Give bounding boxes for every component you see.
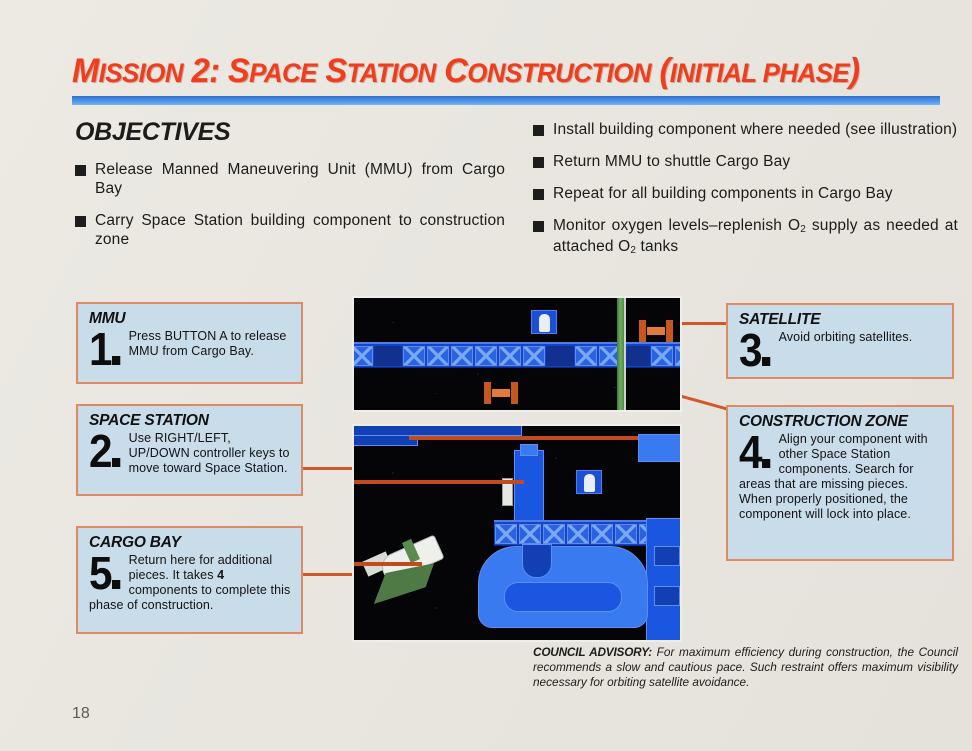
station-block (615, 524, 637, 544)
callout-heading: MMU (89, 310, 292, 328)
objective-item: Return MMU to shuttle Cargo Bay (533, 152, 958, 171)
callout-heading: CONSTRUCTION ZONE (739, 413, 943, 431)
square-bullet-icon (75, 165, 86, 176)
objective-text: Return MMU to shuttle Cargo Bay (553, 152, 790, 171)
station-block (475, 346, 497, 366)
station-tower-cap (520, 444, 538, 456)
station-tower (514, 450, 544, 526)
mmu-sprite (531, 310, 557, 334)
station-column-notch (654, 586, 680, 606)
station-block (523, 346, 545, 366)
station-block (495, 524, 517, 544)
satellite-sprite-upper (639, 320, 673, 342)
square-bullet-icon (75, 216, 86, 227)
station-block (519, 524, 541, 544)
gameplay-screenshot-top (352, 296, 682, 412)
objective-item: Install building component where needed … (533, 120, 958, 139)
station-column-notch (654, 546, 680, 566)
station-block (427, 346, 449, 366)
station-block (567, 524, 589, 544)
green-barrier (617, 298, 626, 412)
objective-item: Carry Space Station building component t… (75, 211, 505, 249)
title-rule (72, 96, 940, 105)
objectives-column-right: Install building component where needed … (533, 120, 958, 271)
callout-number: 5 (89, 553, 120, 593)
construction-zone-gap (522, 544, 552, 578)
callout-heading: SPACE STATION (89, 412, 292, 430)
callout-number: 4 (739, 432, 770, 472)
callout-number: 1 (89, 329, 120, 369)
objective-item: Release Manned Maneuvering Unit (MMU) fr… (75, 160, 505, 198)
objective-text: Carry Space Station building component t… (95, 211, 505, 249)
station-block (651, 346, 673, 366)
page-title: MISSION 2: SPACE STATION CONSTRUCTION (I… (72, 52, 905, 91)
objective-item: Monitor oxygen levels–replenish O2 suppl… (533, 216, 958, 258)
station-column-right (646, 518, 682, 642)
objective-item: Repeat for all building components in Ca… (533, 184, 958, 203)
page-title-block: MISSION 2: SPACE STATION CONSTRUCTION (I… (72, 52, 940, 105)
square-bullet-icon (533, 125, 544, 136)
callout-number: 3 (739, 330, 770, 370)
station-block (499, 346, 521, 366)
square-bullet-icon (533, 221, 544, 232)
objective-text: Repeat for all building components in Ca… (553, 184, 893, 203)
manual-page: MISSION 2: SPACE STATION CONSTRUCTION (I… (0, 0, 972, 751)
advisory-label: COUNCIL ADVISORY: (533, 645, 652, 659)
callout-number: 2 (89, 431, 120, 471)
station-block (575, 346, 597, 366)
gameplay-screenshot-bottom (352, 424, 682, 642)
station-ledge (352, 424, 522, 436)
station-block (403, 346, 425, 366)
objective-text: Monitor oxygen levels–replenish O2 suppl… (553, 216, 958, 258)
square-bullet-icon (533, 189, 544, 200)
station-module (638, 434, 682, 462)
boundary-marker-low (352, 562, 422, 566)
station-block (591, 524, 613, 544)
shuttle-sprite (362, 538, 472, 618)
station-gap (622, 346, 650, 366)
satellite-sprite-lower (484, 382, 518, 404)
station-block (451, 346, 473, 366)
station-gap (374, 346, 402, 366)
square-bullet-icon (533, 157, 544, 168)
callout-mmu[interactable]: MMU 1 Press BUTTON A to release MMU from… (76, 302, 303, 384)
callout-satellite[interactable]: SATELLITE 3 Avoid orbiting satellites. (726, 303, 954, 379)
station-block (543, 524, 565, 544)
council-advisory: COUNCIL ADVISORY: For maximum efficiency… (533, 645, 958, 690)
objectives-heading: OBJECTIVES (75, 118, 230, 147)
boundary-marker-mid (352, 480, 524, 484)
space-station-beam (352, 342, 682, 368)
mmu-sprite (576, 470, 602, 494)
page-number: 18 (72, 705, 90, 723)
callout-cargo-bay[interactable]: CARGO BAY 5 Return here for additional p… (76, 526, 303, 634)
callout-heading: CARGO BAY (89, 534, 292, 552)
callout-space-station[interactable]: SPACE STATION 2 Use RIGHT/LEFT, UP/DOWN … (76, 404, 303, 496)
station-block (675, 346, 682, 366)
station-block (352, 346, 373, 366)
station-gap (546, 346, 574, 366)
objectives-column-left: Release Manned Maneuvering Unit (MMU) fr… (75, 160, 505, 262)
construction-zone-core (504, 582, 622, 612)
callout-construction-zone[interactable]: CONSTRUCTION ZONE 4 Align your component… (726, 405, 954, 561)
callout-heading: SATELLITE (739, 311, 943, 329)
objective-text: Install building component where needed … (553, 120, 957, 139)
objective-text: Release Manned Maneuvering Unit (MMU) fr… (95, 160, 505, 198)
